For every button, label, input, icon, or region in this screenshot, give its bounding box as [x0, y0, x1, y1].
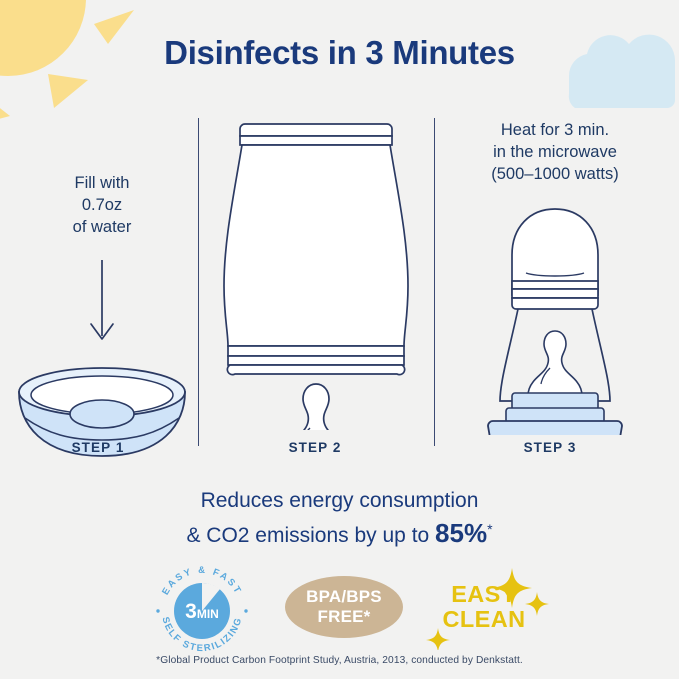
bpa-line-1: BPA/BPS: [306, 587, 382, 607]
claim-line-1: Reduces energy consumption: [0, 486, 679, 515]
easy-clean-badge: EASY CLEAN: [424, 562, 554, 650]
step-1-caption: Fill with 0.7oz of water: [8, 172, 196, 238]
badge-3min-unit: MIN: [197, 607, 219, 621]
step-3-caption-line-2: in the microwave: [438, 141, 672, 163]
column-divider-2: [434, 118, 435, 446]
assembled-base-icon: [488, 421, 622, 435]
step-3-caption: Heat for 3 min. in the microwave (500–10…: [438, 119, 672, 185]
step-2-illustration: [202, 110, 430, 430]
inner-teat-icon: [528, 331, 582, 396]
step-1-column: Fill with 0.7oz of water: [8, 110, 196, 488]
step-1-caption-line-2: 0.7oz: [8, 194, 196, 216]
bottle-teat-icon: [284, 384, 348, 430]
step-label-2: STEP 2: [235, 440, 395, 455]
claim-percentage: 85%: [435, 518, 487, 548]
bottle-cover-icon: [224, 124, 408, 375]
3-min-self-sterilizing-badge: EASY & FAST SELF STERILIZING 3MIN: [152, 561, 252, 653]
inner-collar-icon: [506, 393, 604, 423]
infographic-stage: Disinfects in 3 Minutes Fill with 0.7oz …: [0, 0, 679, 679]
page-title: Disinfects in 3 Minutes: [0, 34, 679, 72]
step-label-1: STEP 1: [18, 440, 178, 455]
footnote: *Global Product Carbon Footprint Study, …: [0, 655, 679, 666]
step-3-column: Heat for 3 min. in the microwave (500–10…: [438, 110, 672, 435]
energy-claim: Reduces energy consumption & CO2 emissio…: [0, 486, 679, 550]
step-label-3: STEP 3: [470, 440, 630, 455]
step-3-caption-line-3: (500–1000 watts): [438, 163, 672, 185]
badge-row: EASY & FAST SELF STERILIZING 3MIN: [0, 560, 679, 650]
step-2-column: [202, 110, 430, 430]
easy-clean-line-1: EASY: [430, 582, 538, 607]
down-arrow-icon: [91, 260, 113, 339]
step-1-caption-line-1: Fill with: [8, 172, 196, 194]
step-1-caption-line-3: of water: [8, 216, 196, 238]
bpa-line-2: FREE*: [318, 607, 371, 627]
claim-line-2: & CO2 emissions by up to 85%*: [0, 515, 679, 550]
easy-clean-line-2: CLEAN: [430, 607, 538, 632]
step-3-illustration: [438, 185, 672, 435]
easy-clean-text: EASY CLEAN: [430, 582, 538, 632]
assembled-cover-icon: [512, 209, 598, 309]
claim-asterisk: *: [487, 521, 492, 537]
claim-line-2-prefix: & CO2 emissions by up to: [186, 524, 435, 547]
bpa-ellipse: BPA/BPS FREE*: [285, 576, 403, 638]
column-divider-1: [198, 118, 199, 446]
step-3-caption-line-1: Heat for 3 min.: [438, 119, 672, 141]
bpa-bps-free-badge: BPA/BPS FREE*: [285, 576, 403, 638]
badge-3min-number: 3: [185, 600, 197, 623]
